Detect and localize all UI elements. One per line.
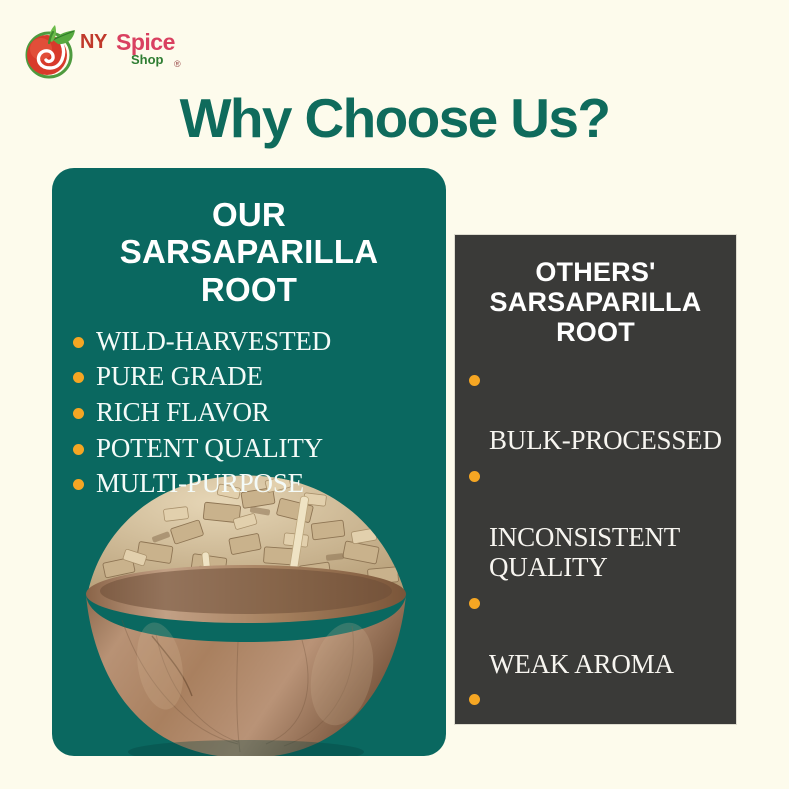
others-feature-list: BULK-PROCESSED INCONSISTENT QUALITY WEAK…: [463, 364, 736, 724]
list-item-label: MULTI-PURPOSE: [96, 468, 304, 498]
bullet-dot-icon: [73, 372, 84, 383]
list-item-label: WILD-HARVESTED: [96, 326, 331, 356]
bullet-dot-icon: [73, 444, 84, 455]
registered-mark-icon: ®: [174, 59, 181, 69]
list-item-label: POTENT QUALITY: [96, 433, 323, 463]
list-item: INCONSISTENT QUALITY: [463, 460, 736, 583]
our-feature-list: WILD-HARVESTED PURE GRADE RICH FLAVOR PO…: [66, 324, 446, 502]
bullet-dot-icon: [73, 479, 84, 490]
list-item-label: PURE GRADE: [96, 361, 263, 391]
tomato-leaf-logo-icon: [22, 24, 78, 80]
list-item: BULK-PROCESSED: [463, 364, 736, 456]
brand-name-shop: Shop: [131, 52, 164, 67]
list-item: WILD-HARVESTED: [66, 324, 446, 360]
list-item: PURE GRADE: [66, 359, 446, 395]
list-item: WEAK AROMA: [463, 587, 736, 679]
list-item-label: INCONSISTENT QUALITY: [489, 522, 680, 583]
bullet-dot-icon: [469, 598, 480, 609]
bullet-dot-icon: [469, 471, 480, 482]
others-comparison-card: OTHERS' SARSAPARILLA ROOT BULK-PROCESSED…: [455, 235, 736, 724]
others-card-title: OTHERS' SARSAPARILLA ROOT: [455, 257, 736, 348]
comparison-infographic: NY Spice Shop ® Why Choose Us? OTHERS' S…: [0, 0, 789, 789]
our-comparison-card: OUR SARSAPARILLA ROOT WILD-HARVESTED PUR…: [52, 168, 446, 756]
bullet-dot-icon: [469, 694, 480, 705]
list-item-label: WEAK AROMA: [489, 649, 674, 679]
list-item: RICH FLAVOR: [66, 395, 446, 431]
list-item: LOW STRENGTH: [463, 683, 736, 724]
list-item-label: BULK-PROCESSED: [489, 425, 722, 455]
brand-wordmark: NY Spice Shop ®: [78, 29, 208, 77]
bullet-dot-icon: [73, 337, 84, 348]
brand-name-ny: NY: [80, 31, 107, 54]
our-card-title: OUR SARSAPARILLA ROOT: [52, 196, 446, 308]
list-item: MULTI-PURPOSE: [66, 466, 446, 502]
brand-logo[interactable]: NY Spice Shop ®: [22, 20, 212, 82]
list-item: POTENT QUALITY: [66, 431, 446, 467]
bullet-dot-icon: [469, 375, 480, 386]
page-title: Why Choose Us?: [0, 86, 789, 150]
list-item-label: RICH FLAVOR: [96, 397, 270, 427]
product-photo-sarsaparilla-root-bowl: [52, 460, 446, 756]
bullet-dot-icon: [73, 408, 84, 419]
